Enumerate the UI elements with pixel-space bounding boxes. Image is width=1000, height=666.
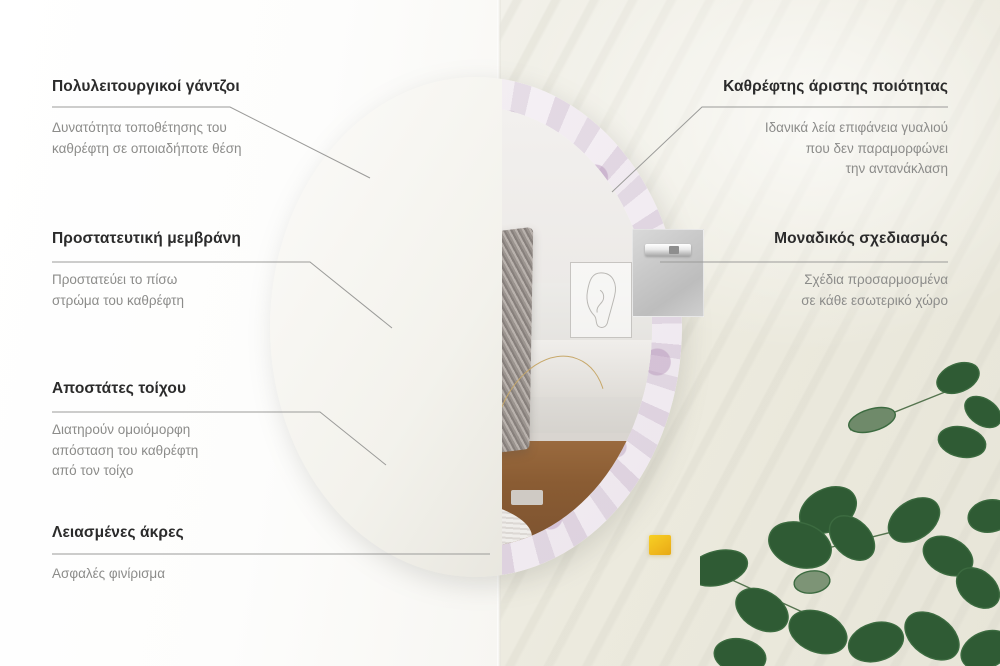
- callout-title: Προστατευτική μεμβράνη: [52, 230, 284, 248]
- reflection-line-art-frame: [570, 262, 632, 338]
- callout-body: Ιδανικά λεία επιφάνεια γυαλιού που δεν π…: [690, 118, 948, 180]
- callout-polished-edges: Λειασμένες άκρες Ασφαλές φινίρισμα: [52, 524, 284, 585]
- callout-body: Προστατεύει το πίσω στρώμα του καθρέφτη: [52, 270, 284, 311]
- callout-title: Πολυλειτουργικοί γάντζοι: [52, 78, 284, 96]
- infographic-canvas: Πολυλειτουργικοί γάντζοι Δυνατότητα τοπο…: [0, 0, 1000, 666]
- callout-title: Αποστάτες τοίχου: [52, 380, 284, 398]
- callout-body: Δυνατότητα τοποθέτησης του καθρέφτη σε ο…: [52, 118, 284, 159]
- foliage-decoration: [700, 320, 1000, 666]
- callout-wall-spacers: Αποστάτες τοίχου Διατηρούν ομοιόμορφη απ…: [52, 380, 284, 482]
- callout-mirror-design: Μοναδικός σχεδιασμός Σχέδια προσαρμοσμέν…: [690, 230, 948, 311]
- callout-title: Καθρέφτης άριστης ποιότητας: [690, 78, 948, 96]
- callout-body: Ασφαλές φινίρισμα: [52, 564, 284, 585]
- callout-title: Λειασμένες άκρες: [52, 524, 284, 542]
- wall-spacer-chip: [649, 535, 671, 555]
- callout-mounting-hooks: Πολυλειτουργικοί γάντζοι Δυνατότητα τοπο…: [52, 78, 284, 159]
- callout-mirror-glass: Καθρέφτης άριστης ποιότητας Ιδανικά λεία…: [690, 78, 948, 180]
- callout-body: Σχέδια προσαρμοσμένα σε κάθε εσωτερικό χ…: [690, 270, 948, 311]
- callout-title: Μοναδικός σχεδιασμός: [690, 230, 948, 248]
- callout-protective-membrane: Προστατευτική μεμβράνη Προστατεύει το πί…: [52, 230, 284, 311]
- reflection-lamp-base: [511, 490, 543, 505]
- callout-body: Διατηρούν ομοιόμορφη απόσταση του καθρέφ…: [52, 420, 284, 482]
